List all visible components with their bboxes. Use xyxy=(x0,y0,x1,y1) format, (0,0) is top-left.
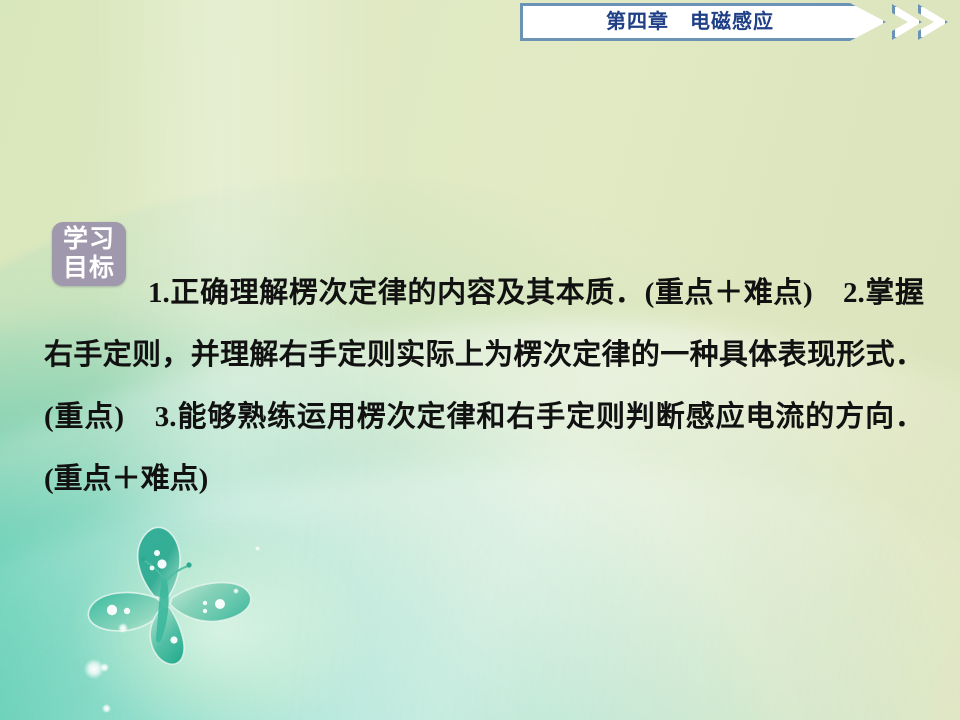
sparkle-4 xyxy=(102,704,111,713)
butterfly-icon xyxy=(72,512,292,672)
badge-label-line1: 学习 xyxy=(63,225,115,254)
chapter-header-banner: 第四章 电磁感应 xyxy=(520,3,960,41)
sparkle-5 xyxy=(233,588,239,594)
slide: 第四章 电磁感应 学习 目标 1.正确理解楞次定律的内容及其本质．(重点＋难点)… xyxy=(0,0,960,720)
learning-objectives-text: 1.正确理解楞次定律的内容及其本质．(重点＋难点) 2.掌握右手定则，并理解右手… xyxy=(44,262,924,510)
chevron-right-icon-1 xyxy=(892,4,922,40)
sparkle-1 xyxy=(118,623,128,633)
sparkle-3 xyxy=(100,663,109,672)
sparkle-6 xyxy=(255,546,260,551)
chapter-title: 第四章 电磁感应 xyxy=(520,3,860,41)
chevron-right-icon-2 xyxy=(918,4,948,40)
